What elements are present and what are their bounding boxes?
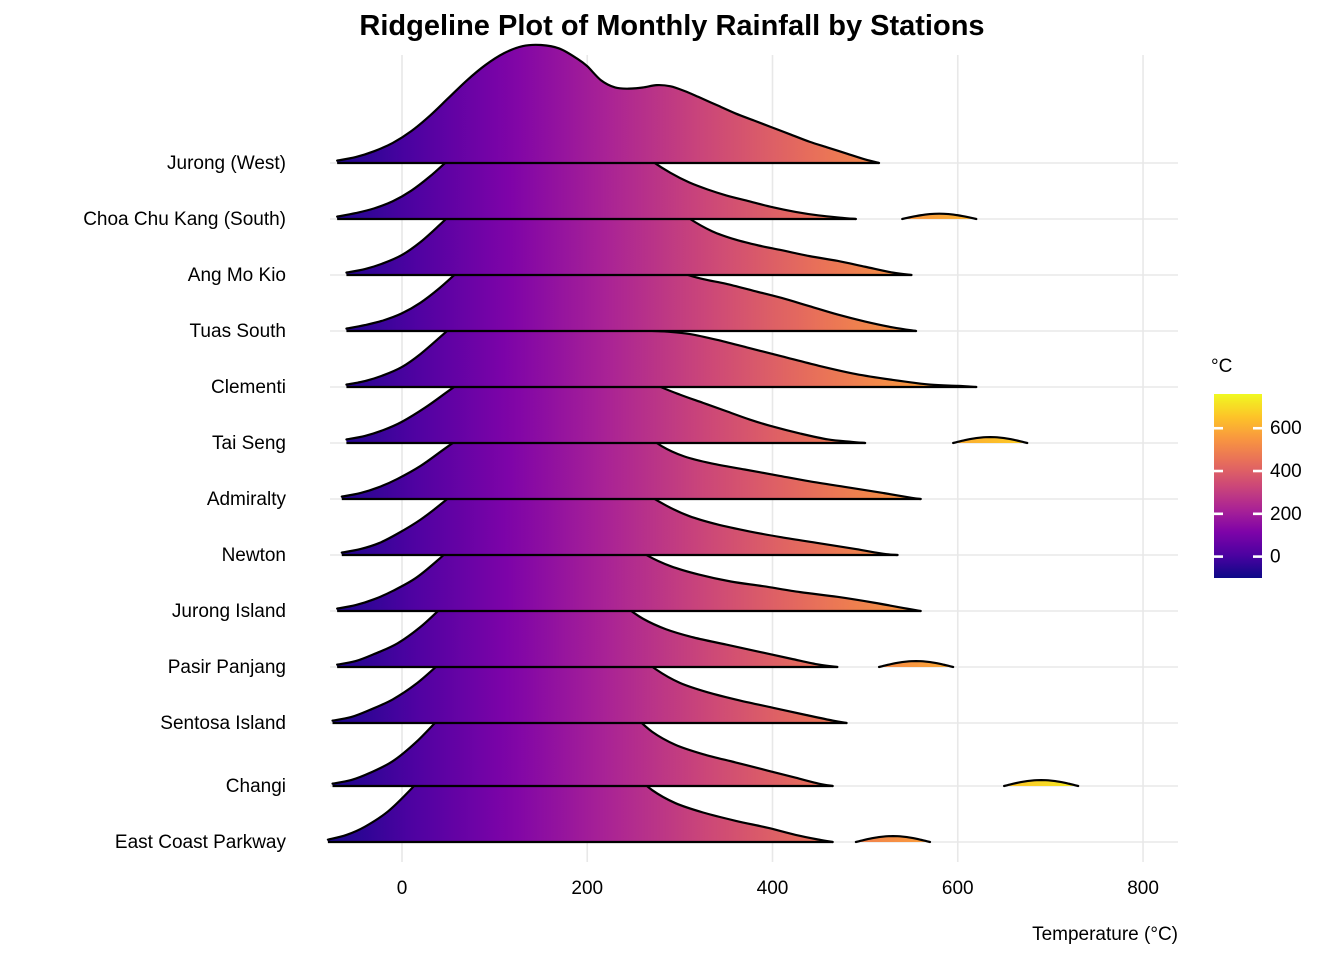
y-axis-label: Tai Seng (212, 433, 286, 454)
y-axis-label: Sentosa Island (160, 713, 286, 734)
y-axis-label: Jurong (West) (167, 153, 286, 174)
y-axis-label: Pasir Panjang (168, 657, 286, 678)
legend-colorbar[interactable] (1214, 394, 1262, 578)
legend-tick-label: 0 (1270, 547, 1281, 568)
ridgeline-chart-root: Ridgeline Plot of Monthly Rainfall by St… (0, 0, 1344, 960)
x-axis-tick-label: 400 (757, 878, 789, 899)
x-axis-tick-label: 800 (1127, 878, 1159, 899)
legend-tick-label: 400 (1270, 461, 1302, 482)
y-axis-label: Admiralty (207, 489, 287, 510)
x-axis-tick-label: 600 (942, 878, 974, 899)
legend-tick-label: 200 (1270, 504, 1302, 525)
y-axis-label: Changi (226, 776, 286, 797)
legend-title: °C (1211, 356, 1232, 377)
y-axis-label: East Coast Parkway (115, 832, 287, 853)
x-axis-title: Temperature (°C) (1032, 924, 1178, 945)
y-axis-label: Choa Chu Kang (South) (83, 209, 286, 230)
y-axis-labels: Jurong (West)Choa Chu Kang (South)Ang Mo… (83, 153, 286, 853)
plot-canvas: Jurong (West)Choa Chu Kang (South)Ang Mo… (0, 0, 1344, 960)
y-axis-label: Jurong Island (172, 601, 286, 622)
y-axis-label: Tuas South (190, 321, 286, 342)
x-axis-tick-label: 0 (397, 878, 408, 899)
x-axis-tick-label: 200 (571, 878, 603, 899)
ridge-series (337, 45, 879, 163)
ridge-area-fill (337, 45, 879, 163)
x-axis-tick-labels: 0200400600800 (397, 878, 1159, 899)
legend-tick-label: 600 (1270, 418, 1302, 439)
y-axis-label: Clementi (211, 377, 286, 398)
y-axis-label: Ang Mo Kio (188, 265, 286, 286)
colorbar-legend[interactable]: °C0200400600 (1211, 356, 1302, 578)
y-axis-label: Newton (222, 545, 286, 566)
